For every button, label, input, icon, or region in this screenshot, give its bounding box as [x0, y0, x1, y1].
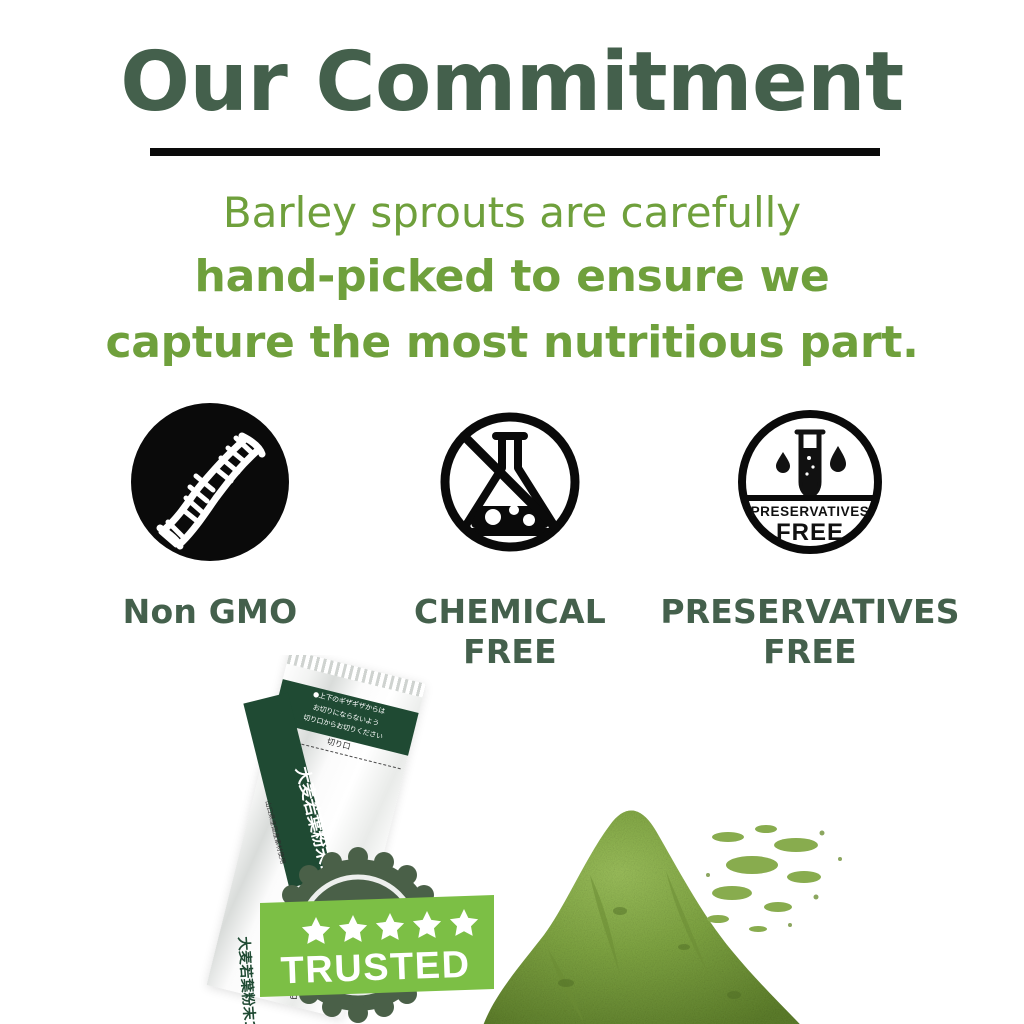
badge-label-line-1: PRESERVATIVES — [660, 592, 959, 631]
preservatives-free-seal-icon: PRESERVATIVES FREE — [660, 398, 960, 566]
seal-text-preservatives: PRESERVATIVES — [751, 504, 870, 519]
badge-label-line-1: CHEMICAL — [414, 592, 606, 631]
badge-label-non-gmo: Non GMO — [60, 592, 360, 632]
badge-preservatives-free: PRESERVATIVES FREE PRESERVATIVES FREE — [660, 398, 960, 672]
commitment-infographic: Our Commitment Barley sprouts are carefu… — [0, 0, 1024, 1024]
product-photo-area: ●上下のギザギザからは お切りにならないよう 切り口からお切りください 切り口 … — [0, 655, 1024, 1024]
dna-icon — [60, 398, 360, 566]
title-divider — [150, 148, 880, 156]
subtitle-line-1: Barley sprouts are carefully — [0, 182, 1024, 244]
no-chemicals-flask-icon — [360, 398, 660, 566]
badge-label-line-1: Non GMO — [123, 592, 298, 631]
certification-badges-row: Non GMO — [0, 398, 1024, 688]
powder-specks — [700, 815, 880, 945]
badge-non-gmo: Non GMO — [60, 398, 360, 632]
page-title: Our Commitment — [0, 42, 1024, 124]
subtitle-line-2: hand-picked to ensure we — [0, 244, 1024, 310]
trusted-word: TRUSTED — [280, 944, 471, 993]
seal-text-free: FREE — [776, 519, 844, 546]
subtitle-line-3: capture the most nutritious part. — [0, 310, 1024, 376]
trusted-badge: TRUSTED — [258, 845, 498, 1024]
badge-chemical-free: CHEMICAL FREE — [360, 398, 660, 672]
subtitle-block: Barley sprouts are carefully hand-picked… — [0, 182, 1024, 376]
